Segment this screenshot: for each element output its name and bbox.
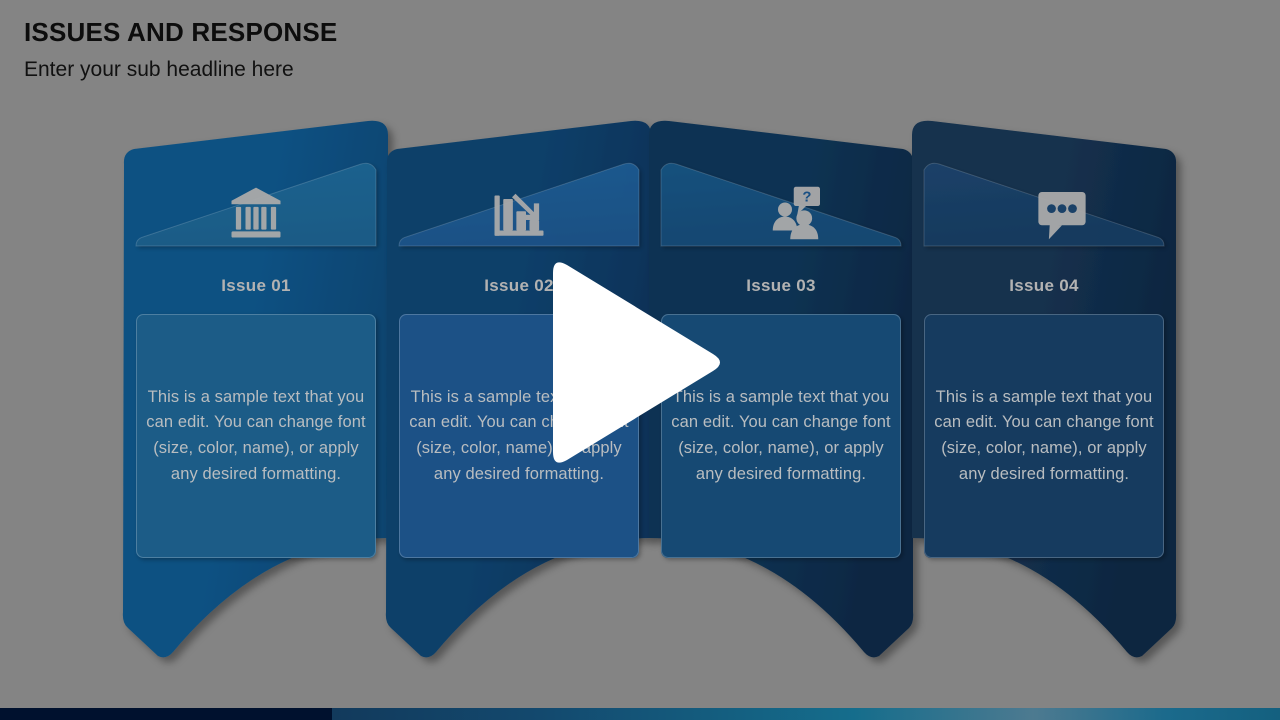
slide-canvas: ISSUES AND RESPONSE Enter your sub headl… [0, 0, 1280, 720]
video-progress-bar[interactable] [0, 708, 1280, 720]
play-icon[interactable] [531, 255, 731, 470]
progress-remaining[interactable] [332, 708, 1280, 720]
video-play-overlay[interactable] [0, 0, 1280, 700]
progress-played[interactable] [0, 708, 332, 720]
